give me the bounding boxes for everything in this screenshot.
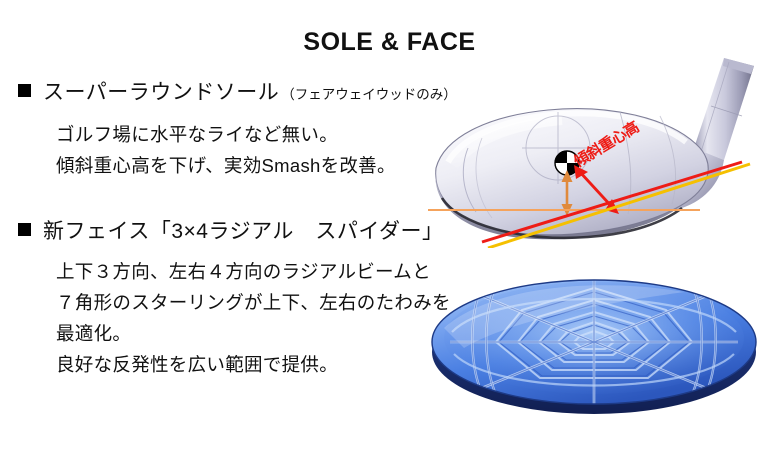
slide-canvas: SOLE & FACE スーパーラウンドソール （フェアウェイウッドのみ） ゴル… [0, 0, 779, 460]
section-2-body-line: ７角形のスターリングが上下、左右のたわみを [56, 287, 428, 318]
section-spacer [18, 181, 428, 217]
hosel-icon [694, 58, 754, 160]
face-illustration-svg [424, 262, 764, 442]
section-super-round-sole: スーパーラウンドソール （フェアウェイウッドのみ） ゴルフ場に水平なライなど無い… [18, 78, 428, 181]
section-1-heading: スーパーラウンドソール （フェアウェイウッドのみ） [18, 78, 428, 110]
section-2-heading-main: 新フェイス「3×4ラジアル スパイダー」 [43, 217, 444, 247]
square-bullet-icon [18, 223, 31, 236]
content-text-column: スーパーラウンドソール （フェアウェイウッドのみ） ゴルフ場に水平なライなど無い… [18, 78, 428, 380]
section-2-heading: 新フェイス「3×4ラジアル スパイダー」 [18, 217, 428, 247]
section-1-body-line: ゴルフ場に水平なライなど無い。 [56, 119, 428, 150]
section-2-body-line: 上下３方向、左右４方向のラジアルビームと [56, 256, 428, 287]
face-illustration [424, 262, 764, 442]
section-2-body-line: 良好な反発性を広い範囲で提供。 [56, 349, 428, 380]
section-new-face: 新フェイス「3×4ラジアル スパイダー」 上下３方向、左右４方向のラジアルビーム… [18, 217, 428, 380]
section-2-body-line: 最適化。 [56, 318, 428, 349]
section-2-body: 上下３方向、左右４方向のラジアルビームと ７角形のスターリングが上下、左右のたわ… [56, 256, 428, 380]
section-1-body: ゴルフ場に水平なライなど無い。 傾斜重心高を下げ、実効Smashを改善。 [56, 119, 428, 181]
spider-web-pattern [444, 280, 744, 404]
square-bullet-icon [18, 84, 31, 97]
section-1-heading-main: スーパーラウンドソール [43, 78, 279, 108]
section-1-body-line: 傾斜重心高を下げ、実効Smashを改善。 [56, 150, 428, 181]
